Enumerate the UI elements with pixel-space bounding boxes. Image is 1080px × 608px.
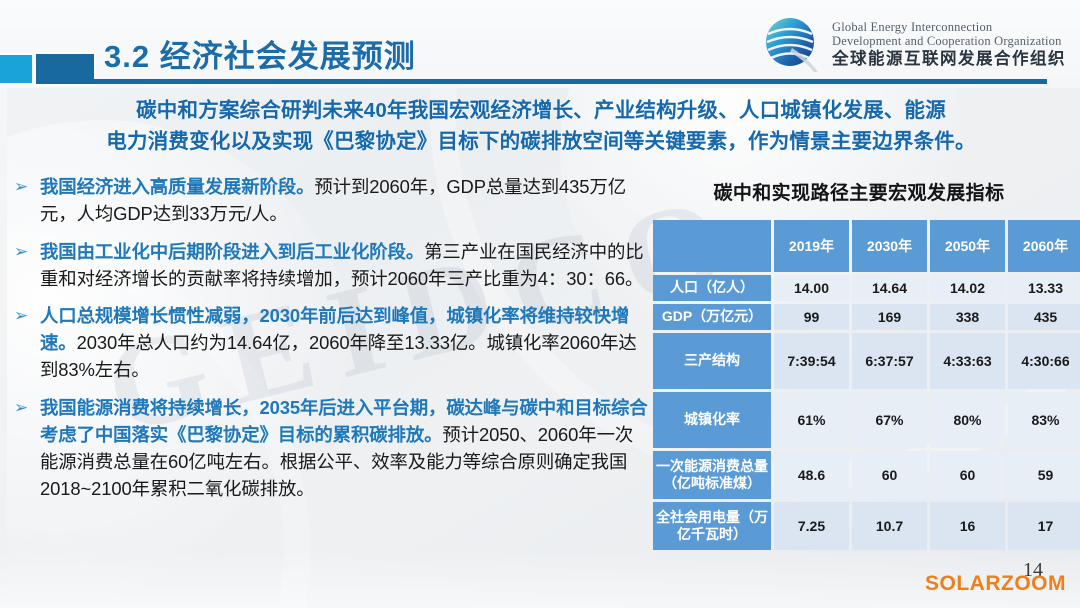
bullet-text: 我国由工业化中后期阶段进入到后工业化阶段。第三产业在国民经济中的比重和对经济增长…	[40, 239, 650, 293]
column-header: 2030年	[852, 220, 927, 272]
header-accent-tab-dark	[34, 52, 96, 86]
list-item: ➢ 我国经济进入高质量发展新阶段。预计到2060年，GDP总量达到435万亿元，…	[14, 174, 650, 228]
table-cell: 338	[930, 304, 1005, 330]
table-cell: 80%	[930, 392, 1005, 448]
table-cell: 61%	[774, 392, 849, 448]
table-cell: 7:39:54	[774, 333, 849, 389]
table-cell: 59	[1008, 451, 1080, 499]
table-row: 人口（亿人） 14.00 14.64 14.02 13.33	[653, 275, 1080, 301]
table-cell: 435	[1008, 304, 1080, 330]
table-cell: 17	[1008, 502, 1080, 550]
row-header: 人口（亿人）	[653, 275, 771, 301]
logo-chinese-name: 全球能源互联网发展合作组织	[832, 50, 1066, 68]
table-cell: 4:30:66	[1008, 333, 1080, 389]
arrow-bullet-icon: ➢	[14, 239, 40, 293]
table-cell: 4:33:63	[930, 333, 1005, 389]
table-row: GDP（万亿元） 99 169 338 435	[653, 304, 1080, 330]
table-corner-cell	[653, 220, 771, 272]
lead-line-1: 碳中和方案综合研判未来40年我国宏观经济增长、产业结构升级、人口城镇化发展、能源	[22, 95, 1060, 126]
table-cell: 60	[930, 451, 1005, 499]
header-accent-tab-light	[0, 53, 32, 85]
row-header: 三产结构	[653, 333, 771, 389]
bullet-text: 人口总规模增长惯性减弱，2030年前后达到峰值，城镇化率将维持较快增速。2030…	[40, 303, 650, 384]
row-header: GDP（万亿元）	[653, 304, 771, 330]
table-cell: 83%	[1008, 392, 1080, 448]
table-row: 全社会用电量（万亿千瓦时） 7.25 10.7 16 17	[653, 502, 1080, 550]
table-cell: 14.00	[774, 275, 849, 301]
column-header: 2060年	[1008, 220, 1080, 272]
logo-english-line-1: Global Energy Interconnection	[832, 20, 1066, 34]
table-row: 三产结构 7:39:54 6:37:57 4:33:63 4:30:66	[653, 333, 1080, 389]
list-item: ➢ 人口总规模增长惯性减弱，2030年前后达到峰值，城镇化率将维持较快增速。20…	[14, 303, 650, 384]
macro-indicator-table: 2019年 2030年 2050年 2060年 人口（亿人） 14.00 14.…	[650, 217, 1080, 553]
lead-paragraph: 碳中和方案综合研判未来40年我国宏观经济增长、产业结构升级、人口城镇化发展、能源…	[22, 95, 1060, 157]
arrow-bullet-icon: ➢	[14, 303, 40, 384]
left-edge-strip	[0, 0, 7, 608]
solarzoom-watermark: SOLARZOOM	[925, 572, 1066, 596]
logo-english-line-2: Development and Cooperation Organization	[832, 34, 1066, 48]
table-cell: 67%	[852, 392, 927, 448]
bullet-highlight: 我国经济进入高质量发展新阶段。	[40, 176, 314, 197]
table-cell: 6:37:57	[852, 333, 927, 389]
table-row: 城镇化率 61% 67% 80% 83%	[653, 392, 1080, 448]
column-header: 2019年	[774, 220, 849, 272]
arrow-bullet-icon: ➢	[14, 174, 40, 228]
table-cell: 14.02	[930, 275, 1005, 301]
table-cell: 60	[852, 451, 927, 499]
row-header: 城镇化率	[653, 392, 771, 448]
page-title: 3.2 经济社会发展预测	[104, 31, 416, 76]
bullet-rest: 2030年总人口约为14.64亿，2060年降至13.33亿。城镇化率2060年…	[40, 332, 637, 380]
table-cell: 14.64	[852, 275, 927, 301]
list-item: ➢ 我国能源消费将持续增长，2035年后进入平台期，碳达峰与碳中和目标综合考虑了…	[14, 395, 650, 502]
table-cell: 99	[774, 304, 849, 330]
row-header: 一次能源消费总量（亿吨标准煤）	[653, 451, 771, 499]
bullet-highlight: 我国由工业化中后期阶段进入到后工业化阶段。	[40, 241, 424, 262]
lead-line-2: 电力消费变化以及实现《巴黎协定》目标下的碳排放空间等关键要素，作为情景主要边界条…	[22, 126, 1060, 157]
table-cell: 10.7	[852, 502, 927, 550]
logo-text-block: Global Energy Interconnection Developmen…	[832, 20, 1066, 68]
bullet-text: 我国经济进入高质量发展新阶段。预计到2060年，GDP总量达到435万亿元，人均…	[40, 174, 650, 228]
title-underline	[92, 79, 1047, 84]
bullet-text: 我国能源消费将持续增长，2035年后进入平台期，碳达峰与碳中和目标综合考虑了中国…	[40, 395, 650, 502]
row-header: 全社会用电量（万亿千瓦时）	[653, 502, 771, 550]
table-cell: 7.25	[774, 502, 849, 550]
macro-indicator-table-block: 碳中和实现路径主要宏观发展指标 2019年 2030年 2050年 2060年 …	[650, 178, 1068, 553]
table-cell: 13.33	[1008, 275, 1080, 301]
table-row: 一次能源消费总量（亿吨标准煤） 48.6 60 60 59	[653, 451, 1080, 499]
list-item: ➢ 我国由工业化中后期阶段进入到后工业化阶段。第三产业在国民经济中的比重和对经济…	[14, 239, 650, 293]
arrow-bullet-icon: ➢	[14, 395, 40, 502]
table-cell: 16	[930, 502, 1005, 550]
table-cell: 169	[852, 304, 927, 330]
table-cell: 48.6	[774, 451, 849, 499]
bullet-list: ➢ 我国经济进入高质量发展新阶段。预计到2060年，GDP总量达到435万亿元，…	[14, 174, 650, 594]
organization-logo: Global Energy Interconnection Developmen…	[762, 10, 1072, 78]
column-header: 2050年	[930, 220, 1005, 272]
globe-icon	[762, 14, 822, 74]
slide-canvas: GEIDCO 3.2 经济社会发展预测	[0, 0, 1080, 608]
table-caption: 碳中和实现路径主要宏观发展指标	[650, 178, 1068, 205]
slide-header-bar: 3.2 经济社会发展预测	[0, 0, 1080, 88]
